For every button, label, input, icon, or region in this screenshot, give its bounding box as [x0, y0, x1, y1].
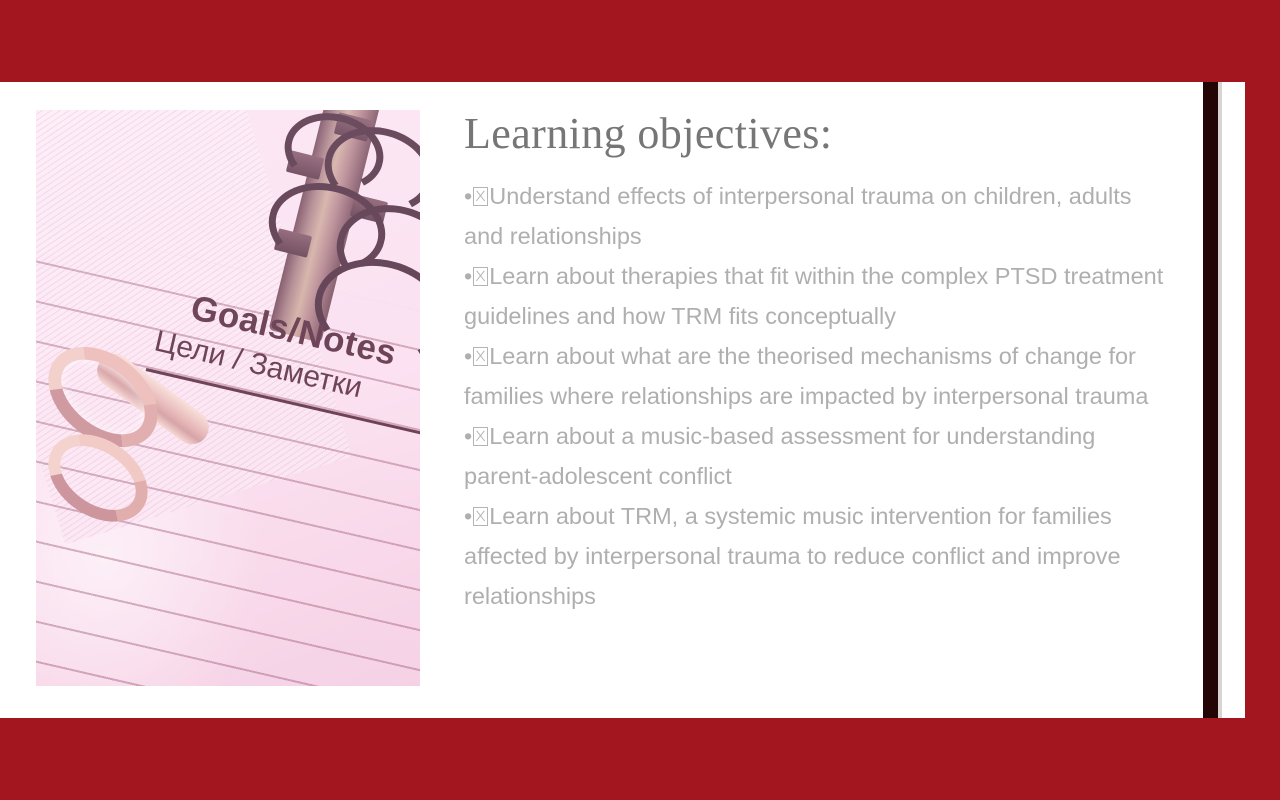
list-item: •Learn about therapies that fit within t…	[464, 256, 1174, 336]
right-red-rail	[1245, 82, 1280, 718]
bullet-marker: •	[464, 423, 472, 449]
slide-content-area: Goals/Notes Цели / Заметки Learning obje…	[0, 82, 1203, 718]
list-item: •Learn about a music-based assessment fo…	[464, 416, 1174, 496]
list-item-text: Understand effects of interpersonal trau…	[464, 183, 1132, 249]
list-item-text: Learn about a music-based assessment for…	[464, 423, 1095, 489]
text-column: Learning objectives: •Understand effects…	[464, 110, 1174, 616]
top-red-band	[0, 0, 1280, 82]
bullet-marker: •	[464, 343, 472, 369]
bottom-red-band	[0, 718, 1280, 800]
missing-glyph-icon	[473, 347, 488, 366]
objectives-list: •Understand effects of interpersonal tra…	[464, 176, 1174, 616]
right-dark-rail	[1203, 82, 1218, 718]
list-item-text: Learn about TRM, a systemic music interv…	[464, 503, 1121, 609]
missing-glyph-icon	[473, 427, 488, 446]
list-item: •Learn about TRM, a systemic music inter…	[464, 496, 1174, 616]
bullet-marker: •	[464, 183, 472, 209]
slide: Goals/Notes Цели / Заметки Learning obje…	[0, 0, 1280, 800]
notebook-photo: Goals/Notes Цели / Заметки	[36, 110, 420, 686]
bullet-marker: •	[464, 503, 472, 529]
missing-glyph-icon	[473, 187, 488, 206]
list-item-text: Learn about what are the theorised mecha…	[464, 343, 1148, 409]
bullet-marker: •	[464, 263, 472, 289]
missing-glyph-icon	[473, 267, 488, 286]
list-item: •Understand effects of interpersonal tra…	[464, 176, 1174, 256]
list-item: •Learn about what are the theorised mech…	[464, 336, 1174, 416]
right-gray-rail	[1218, 82, 1222, 718]
list-item-text: Learn about therapies that fit within th…	[464, 263, 1163, 329]
missing-glyph-icon	[473, 507, 488, 526]
page-title: Learning objectives:	[464, 110, 1174, 158]
